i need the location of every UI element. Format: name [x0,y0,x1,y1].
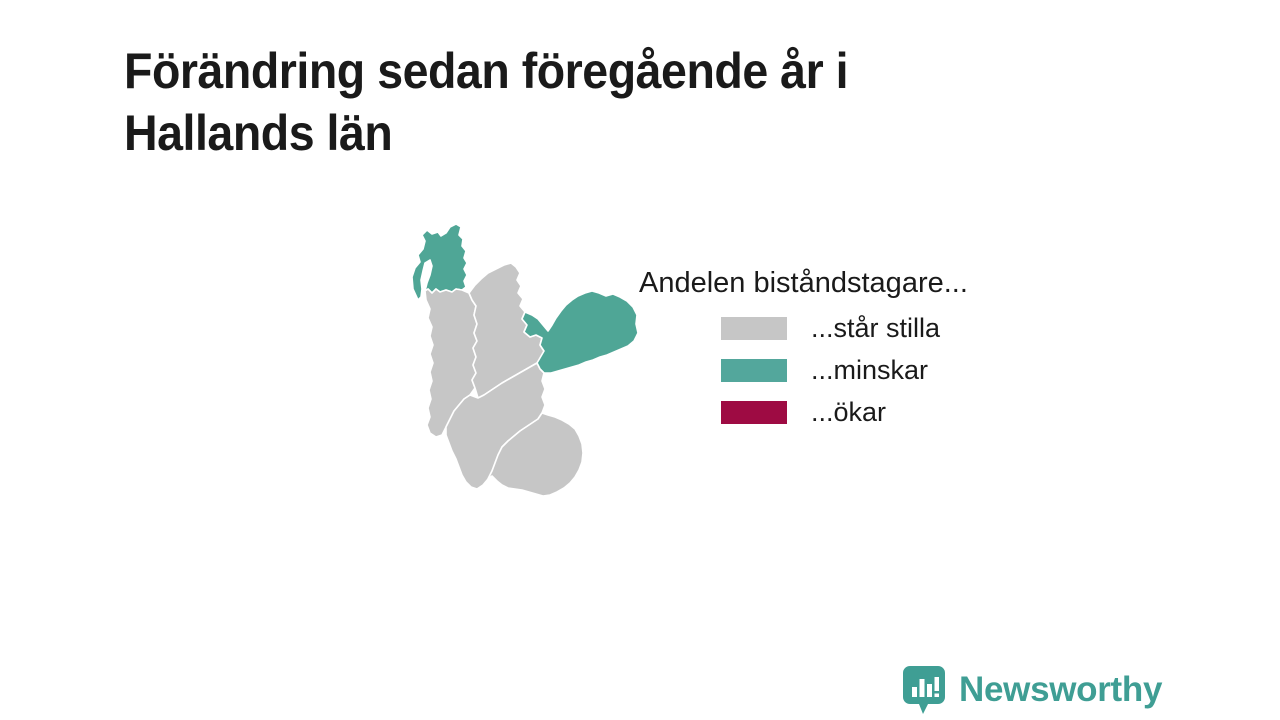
choropleth-map [380,205,640,520]
legend-title: Andelen biståndstagare... [639,266,1069,300]
legend-swatch-decrease [721,359,787,382]
legend-label-increase: ...ökar [811,398,886,426]
legend-item-increase[interactable]: ...ökar [639,398,1069,426]
speech-bubble-bar-chart-icon [902,665,946,715]
legend: Andelen biståndstagare... ...står stilla… [639,266,1069,426]
legend-swatch-increase [721,401,787,424]
page-title: Förändring sedan föregående år i Halland… [124,40,1035,164]
map-svg [380,205,640,520]
legend-swatch-unchanged [721,317,787,340]
newsworthy-logo[interactable]: Newsworthy [902,665,1162,715]
legend-item-decrease[interactable]: ...minskar [639,356,1069,384]
map-region-kungsbacka[interactable] [412,224,467,300]
logo-wordmark: Newsworthy [959,671,1162,709]
legend-label-unchanged: ...står stilla [811,314,940,342]
legend-label-decrease: ...minskar [811,356,928,384]
map-region-hylte[interactable] [522,291,638,373]
legend-item-unchanged[interactable]: ...står stilla [639,314,1069,342]
